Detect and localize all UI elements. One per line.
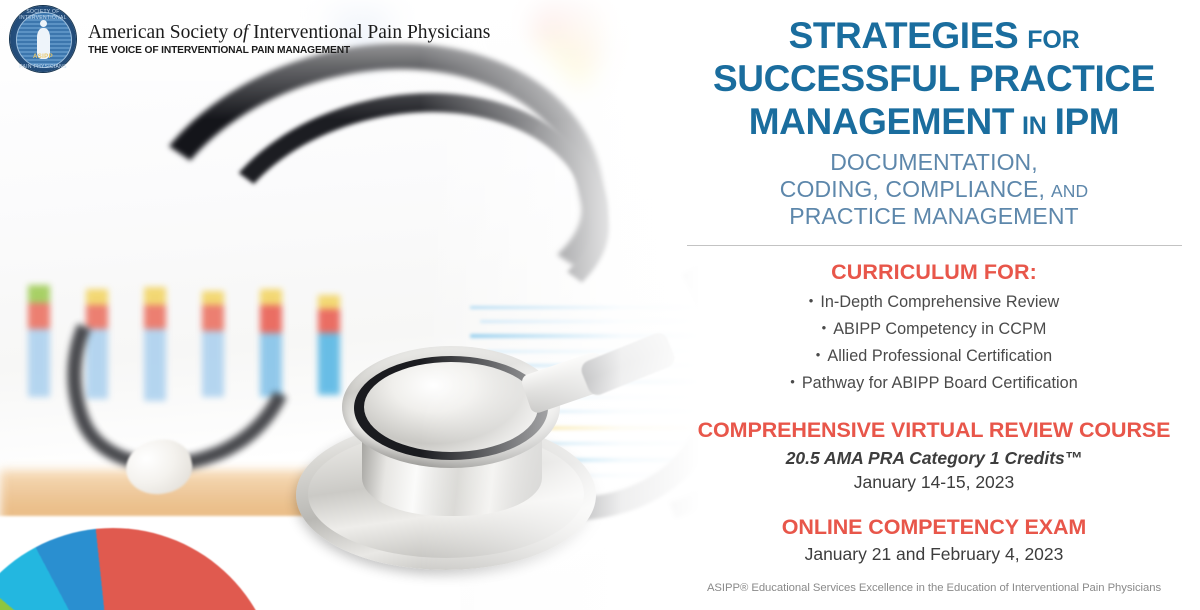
title-management: MANAGEMENT <box>749 101 1014 142</box>
stethoscope-photo <box>0 0 700 610</box>
title-successful-practice: SUCCESSFUL PRACTICE <box>713 58 1155 99</box>
curriculum-item: •In-Depth Comprehensive Review <box>668 293 1200 312</box>
organization-tagline: THE VOICE OF INTERVENTIONAL PAIN MANAGEM… <box>88 45 484 56</box>
bullet-icon: • <box>809 293 814 308</box>
competency-exam-title: ONLINE COMPETENCY EXAM <box>668 515 1200 540</box>
competency-exam-section: ONLINE COMPETENCY EXAM January 21 and Fe… <box>668 515 1200 565</box>
bullet-icon: • <box>816 347 821 362</box>
asipp-seal-icon: SOCIETY OF INTERVENTIONAL ASIPP PAIN PHY… <box>10 6 76 72</box>
org-name-part2: Interventional Pain Physicians <box>248 22 490 43</box>
subtitle-and: AND <box>1051 181 1088 201</box>
title-line-2: SUCCESSFUL PRACTICE <box>668 60 1200 97</box>
curriculum-heading: CURRICULUM FOR: <box>668 260 1200 285</box>
title-line-3: MANAGEMENTINIPM <box>668 103 1200 140</box>
event-subtitle: DOCUMENTATION, CODING, COMPLIANCE,AND PR… <box>668 149 1200 230</box>
photo-donut-ring <box>0 528 278 610</box>
subtitle-line-2: CODING, COMPLIANCE,AND <box>668 176 1200 203</box>
curriculum-item-label: Allied Professional Certification <box>827 347 1052 365</box>
title-for: FOR <box>1027 26 1079 54</box>
org-name-block: American Society of Interventional Pain … <box>88 22 490 56</box>
curriculum-item: •Allied Professional Certification <box>668 347 1200 366</box>
promotional-banner: SOCIETY OF INTERVENTIONAL ASIPP PAIN PHY… <box>0 0 1200 610</box>
curriculum-item-label: Pathway for ABIPP Board Certification <box>802 374 1078 392</box>
review-course-title: COMPREHENSIVE VIRTUAL REVIEW COURSE <box>668 418 1200 443</box>
title-line-1: STRATEGIESFOR <box>668 17 1200 54</box>
bullet-icon: • <box>822 320 827 335</box>
section-divider <box>687 245 1182 246</box>
organization-name: American Society of Interventional Pain … <box>88 22 490 43</box>
title-ipm: IPM <box>1055 101 1120 142</box>
content-panel: STRATEGIESFOR SUCCESSFUL PRACTICE MANAGE… <box>668 0 1200 610</box>
subtitle-coding-compliance: CODING, COMPLIANCE, <box>780 176 1045 202</box>
seal-arc-top-text: SOCIETY OF INTERVENTIONAL <box>10 9 76 21</box>
review-course-credits: 20.5 AMA PRA Category 1 Credits™ <box>668 448 1200 469</box>
bullet-icon: • <box>790 374 795 389</box>
subtitle-line-3: PRACTICE MANAGEMENT <box>668 203 1200 230</box>
asipp-logo: SOCIETY OF INTERVENTIONAL ASIPP PAIN PHY… <box>10 6 490 72</box>
seal-arc-bottom-text: PAIN PHYSICIANS <box>10 64 76 70</box>
org-name-part1: American Society <box>88 22 233 43</box>
subtitle-line-1: DOCUMENTATION, <box>668 149 1200 176</box>
title-in: IN <box>1022 112 1047 140</box>
org-name-of: of <box>233 22 248 43</box>
competency-exam-dates: January 21 and February 4, 2023 <box>668 544 1200 565</box>
curriculum-item-label: ABIPP Competency in CCPM <box>833 320 1046 338</box>
curriculum-section: CURRICULUM FOR: •In-Depth Comprehensive … <box>668 260 1200 393</box>
photo-donut-chart <box>0 528 278 610</box>
title-strategies: STRATEGIES <box>789 15 1019 56</box>
curriculum-item: •ABIPP Competency in CCPM <box>668 320 1200 339</box>
review-course-dates: January 14-15, 2023 <box>668 472 1200 493</box>
footer-note: ASIPP® Educational Services Excellence i… <box>668 582 1200 594</box>
curriculum-item: •Pathway for ABIPP Board Certification <box>668 374 1200 393</box>
event-title: STRATEGIESFOR SUCCESSFUL PRACTICE MANAGE… <box>668 0 1200 140</box>
seal-figure-head <box>40 20 47 27</box>
review-course-section: COMPREHENSIVE VIRTUAL REVIEW COURSE 20.5… <box>668 418 1200 493</box>
curriculum-item-label: In-Depth Comprehensive Review <box>820 293 1059 311</box>
seal-abbreviation: ASIPP <box>10 54 76 60</box>
